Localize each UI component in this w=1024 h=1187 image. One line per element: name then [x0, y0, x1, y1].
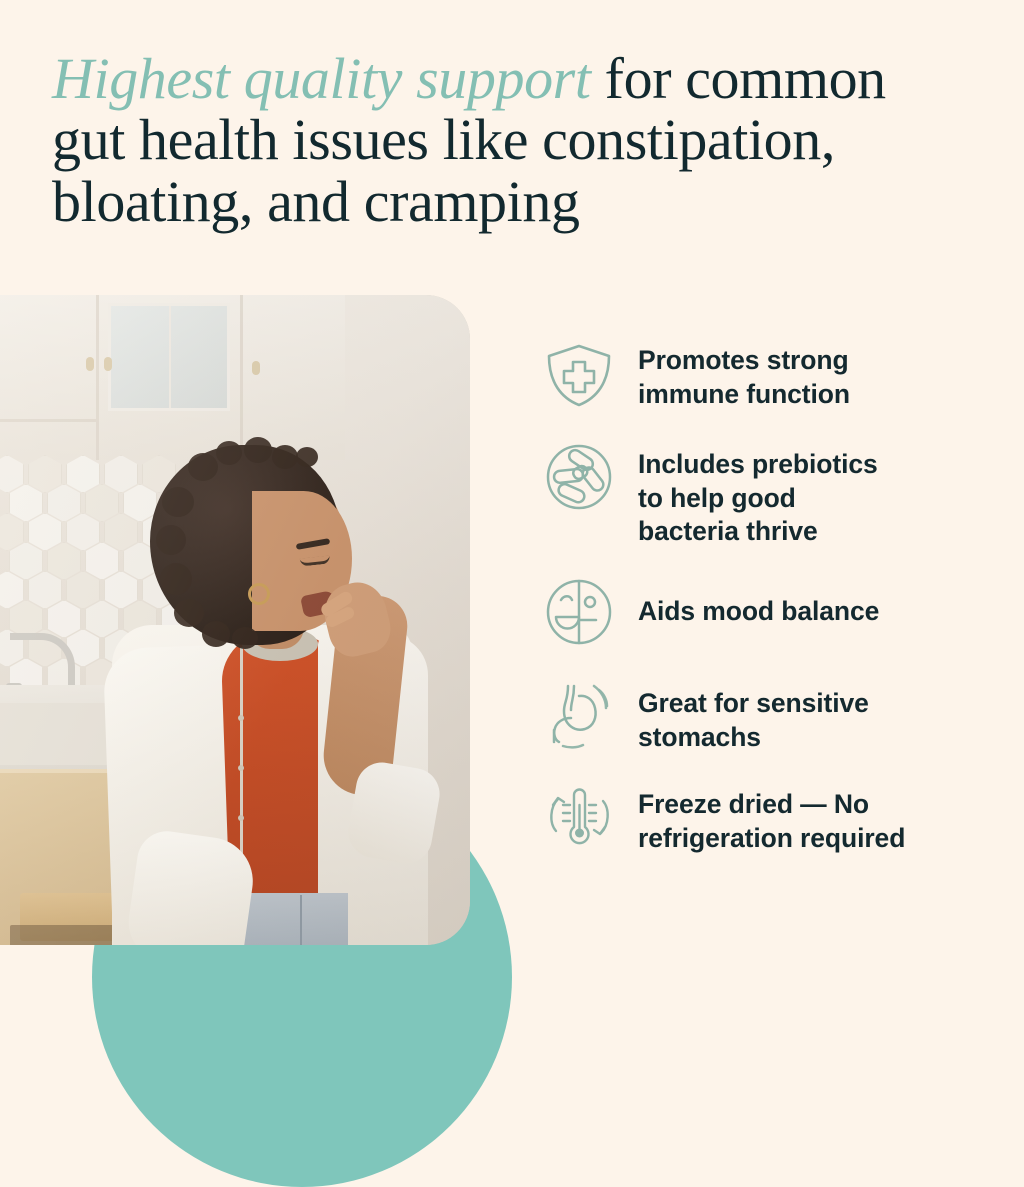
- stomach-icon: [540, 675, 618, 753]
- benefit-label: Great for sensitive stomachs: [638, 675, 996, 754]
- benefit-item: Great for sensitive stomachs: [540, 675, 996, 754]
- page-headline: Highest quality support for common gut h…: [52, 48, 952, 232]
- mood-face-icon: [540, 573, 618, 651]
- lifestyle-photo: [0, 295, 470, 945]
- benefit-item: Includes prebiotics to help good bacteri…: [540, 438, 996, 549]
- headline-accent: Highest quality support: [52, 46, 591, 111]
- bacteria-circle-icon: [540, 438, 618, 516]
- benefit-label: Freeze dried — No refrigeration required: [638, 778, 996, 855]
- hero-section: [0, 295, 520, 1024]
- benefits-list: Promotes strong immune function Includes…: [540, 336, 996, 856]
- benefit-item: Aids mood balance: [540, 573, 996, 651]
- benefit-label: Aids mood balance: [638, 573, 996, 629]
- shield-cross-icon: [540, 336, 618, 414]
- benefit-item: Freeze dried — No refrigeration required: [540, 778, 996, 856]
- benefit-label: Promotes strong immune function: [638, 336, 996, 411]
- benefit-label: Includes prebiotics to help good bacteri…: [638, 438, 996, 549]
- thermometer-refrigeration-icon: [540, 778, 618, 856]
- person: [0, 295, 470, 945]
- benefit-item: Promotes strong immune function: [540, 336, 996, 414]
